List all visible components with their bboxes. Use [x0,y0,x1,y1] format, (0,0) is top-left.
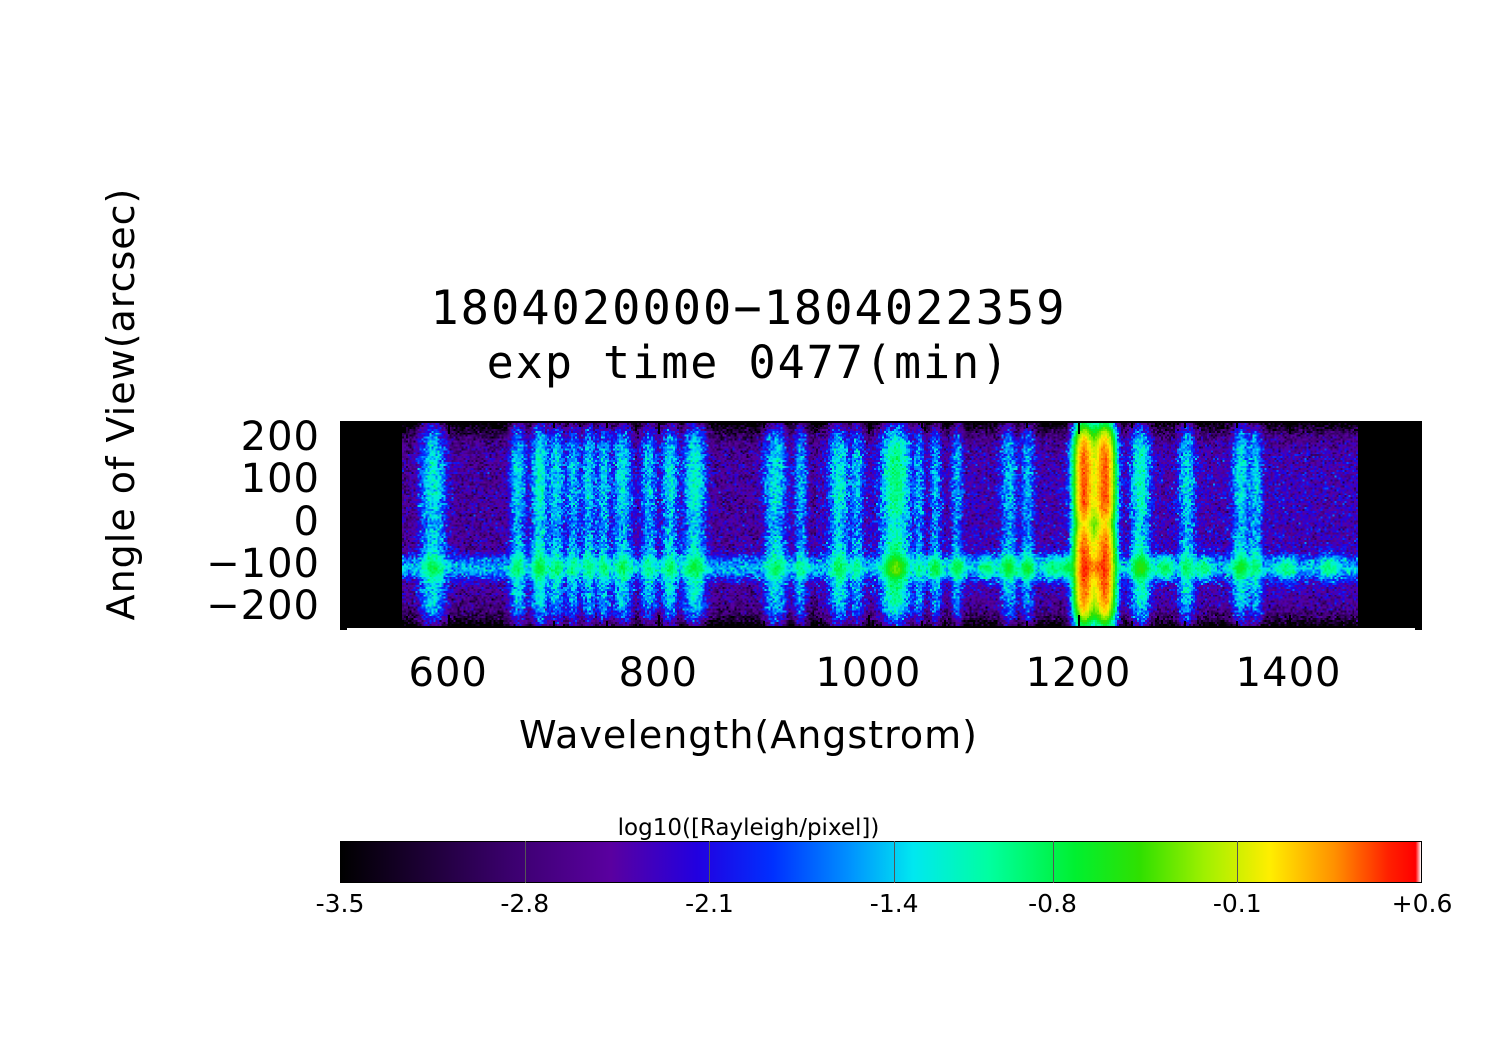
y-axis-title: Angle of View(arcsec) [99,144,141,664]
y-tick-label: 100 [241,456,320,502]
x-tick-label: 1000 [778,650,958,696]
colorbar-tick-label: -3.5 [270,889,410,918]
y-tick-label: −200 [206,583,320,629]
x-axis-title: Wavelength(Angstrom) [0,713,1497,757]
x-tick-label: 600 [358,650,538,696]
colorbar-tick-label: -0.1 [1167,889,1307,918]
x-tick-label: 800 [568,650,748,696]
colorbar [340,841,1422,883]
x-tick-label: 1200 [988,650,1168,696]
colorbar-tick-label: +0.6 [1352,889,1492,918]
colorbar-title: log10([Rayleigh/pixel]) [0,815,1497,841]
x-tick-label: 1400 [1199,650,1379,696]
colorbar-tick-label: -2.8 [455,889,595,918]
spectrogram-image [342,423,1420,626]
figure-title-line1: 1804020000−1804022359 [0,283,1497,335]
colorbar-tick-label: -1.4 [824,889,964,918]
y-tick-label: 0 [294,499,320,545]
figure-title-line2: exp time 0477(min) [0,337,1497,389]
colorbar-tick-label: -0.8 [983,889,1123,918]
y-tick-label: −100 [206,541,320,587]
y-axis-tick-labels: 2001000−100−200 [180,421,328,628]
figure-title: 1804020000−1804022359 exp time 0477(min) [0,283,1497,389]
spectrogram-plot-area [340,421,1422,628]
colorbar-gradient [341,842,1421,882]
colorbar-tick-label: -2.1 [639,889,779,918]
y-tick-label: 200 [241,414,320,460]
